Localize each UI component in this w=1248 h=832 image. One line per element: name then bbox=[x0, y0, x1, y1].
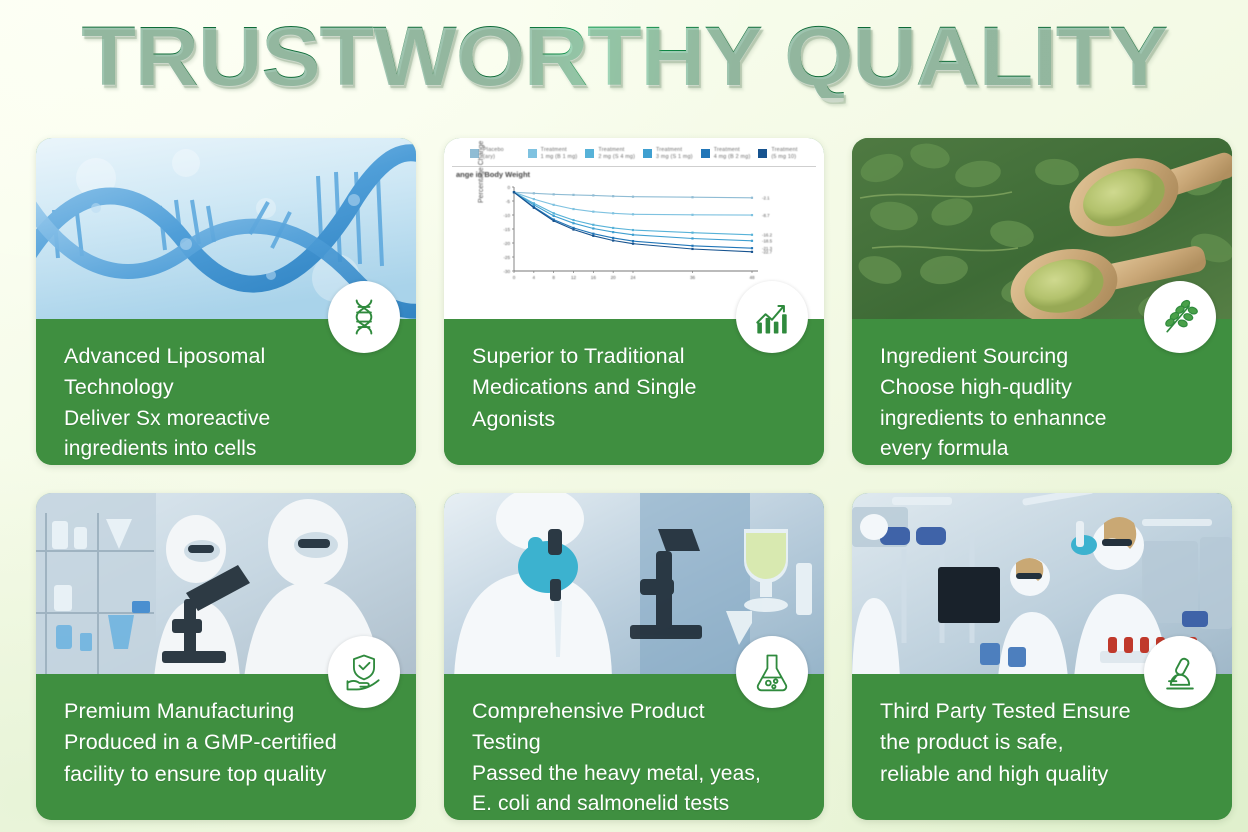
erlenmeyer-flask-icon bbox=[736, 636, 808, 708]
svg-text:12: 12 bbox=[571, 275, 577, 280]
svg-text:-10: -10 bbox=[503, 213, 510, 218]
card-heading-line2: Testing bbox=[472, 727, 798, 758]
hand-shield-check-icon bbox=[328, 636, 400, 708]
bar-chart-growth-icon bbox=[736, 281, 808, 353]
feature-card-superior-to-traditional-medications[interactable]: Placebo(ary) Treatment1 mg (B 1 mg) Trea… bbox=[444, 138, 824, 465]
chart-legend-item: Treatment(5 mg 10) bbox=[758, 147, 810, 162]
svg-text:-15: -15 bbox=[503, 227, 510, 232]
card-heading-line1: Premium Manufacturing bbox=[64, 696, 390, 727]
card-heading-line1: Ingredient Sourcing bbox=[880, 341, 1206, 372]
chart-legend-item: Treatment4 mg (B 2 mg) bbox=[701, 147, 753, 162]
card-heading-line2: Medications and Single bbox=[472, 372, 798, 403]
feature-card-comprehensive-product-testing[interactable]: Comprehensive Product Testing Passed the… bbox=[444, 493, 824, 820]
feature-card-advanced-liposomal-technology[interactable]: Advanced Liposomal Technology Deliver Sx… bbox=[36, 138, 416, 465]
svg-text:-22.7: -22.7 bbox=[762, 249, 773, 254]
svg-text:-20: -20 bbox=[503, 241, 510, 246]
card-body-line2: ingredients into cells bbox=[64, 434, 390, 465]
chart-legend-item: Treatment1 mg (B 1 mg) bbox=[528, 147, 580, 162]
card-body-line1: facility to ensure top quality bbox=[64, 759, 390, 790]
card-body-line1: Deliver Sx moreactive bbox=[64, 404, 390, 435]
svg-text:48: 48 bbox=[749, 275, 755, 280]
card-heading-line2: Produced in a GMP-certified bbox=[64, 727, 390, 758]
svg-text:4: 4 bbox=[533, 275, 536, 280]
svg-text:8: 8 bbox=[552, 275, 555, 280]
card-body-line1: Passed the heavy metal, yeas, bbox=[472, 759, 798, 790]
svg-text:24: 24 bbox=[630, 275, 636, 280]
card-heading-line2: Technology bbox=[64, 372, 390, 403]
chart-y-axis-label: Percentage Change bbox=[478, 140, 485, 202]
card-heading-line2: Choose high-qudlity bbox=[880, 372, 1206, 403]
page-title: TRUSTWORTHY QUALITY bbox=[81, 14, 1167, 98]
feature-card-premium-manufacturing[interactable]: Premium Manufacturing Produced in a GMP-… bbox=[36, 493, 416, 820]
feature-card-grid: Advanced Liposomal Technology Deliver Sx… bbox=[36, 138, 1212, 820]
chart-legend: Placebo(ary) Treatment1 mg (B 1 mg) Trea… bbox=[452, 144, 816, 167]
svg-text:-16.2: -16.2 bbox=[762, 232, 773, 237]
card-heading-line1: Comprehensive Product bbox=[472, 696, 798, 727]
page-header: TRUSTWORTHY QUALITY bbox=[0, 14, 1248, 98]
feature-card-third-party-tested[interactable]: Third Party Tested Ensure the product is… bbox=[852, 493, 1232, 820]
chart-lines: 0-5-10-15-20-25-30048121620243648-2.1-8.… bbox=[452, 179, 816, 291]
chart-legend-item: Treatment3 mg (S 1 mg) bbox=[643, 147, 695, 162]
card-body-line1: ingredients to enhannce bbox=[880, 404, 1206, 435]
svg-text:-18.5: -18.5 bbox=[762, 238, 773, 243]
chart-plot-area: Percentage Change 0-5-10-15-20-25-300481… bbox=[452, 179, 816, 291]
card-heading-line1: Superior to Traditional bbox=[472, 341, 798, 372]
chart-legend-item: Treatment2 mg (S 4 mg) bbox=[585, 147, 637, 162]
card-heading-line1: Advanced Liposomal bbox=[64, 341, 390, 372]
microscope-icon bbox=[1144, 636, 1216, 708]
svg-text:-5: -5 bbox=[506, 199, 511, 204]
svg-text:-8.7: -8.7 bbox=[762, 212, 770, 217]
svg-text:-30: -30 bbox=[503, 269, 510, 274]
svg-text:16: 16 bbox=[591, 275, 597, 280]
card-body-line2: every formula bbox=[880, 434, 1206, 465]
card-body-line1: reliable and high quality bbox=[880, 759, 1206, 790]
card-body-line1: Agonists bbox=[472, 404, 798, 435]
svg-text:0: 0 bbox=[507, 185, 510, 190]
svg-text:-25: -25 bbox=[503, 255, 510, 260]
moringa-leaf-icon bbox=[1144, 281, 1216, 353]
chart-title: ange in Body Weight bbox=[452, 167, 816, 179]
svg-text:0: 0 bbox=[513, 275, 516, 280]
svg-text:-2.1: -2.1 bbox=[762, 195, 770, 200]
svg-text:20: 20 bbox=[611, 275, 617, 280]
feature-card-ingredient-sourcing[interactable]: Ingredient Sourcing Choose high-qudlity … bbox=[852, 138, 1232, 465]
card-body-line2: E. coli and salmonelid tests bbox=[472, 789, 798, 820]
card-heading-line1: Third Party Tested Ensure bbox=[880, 696, 1206, 727]
svg-text:36: 36 bbox=[690, 275, 696, 280]
dna-helix-icon bbox=[328, 281, 400, 353]
card-heading-line2: the product is safe, bbox=[880, 727, 1206, 758]
